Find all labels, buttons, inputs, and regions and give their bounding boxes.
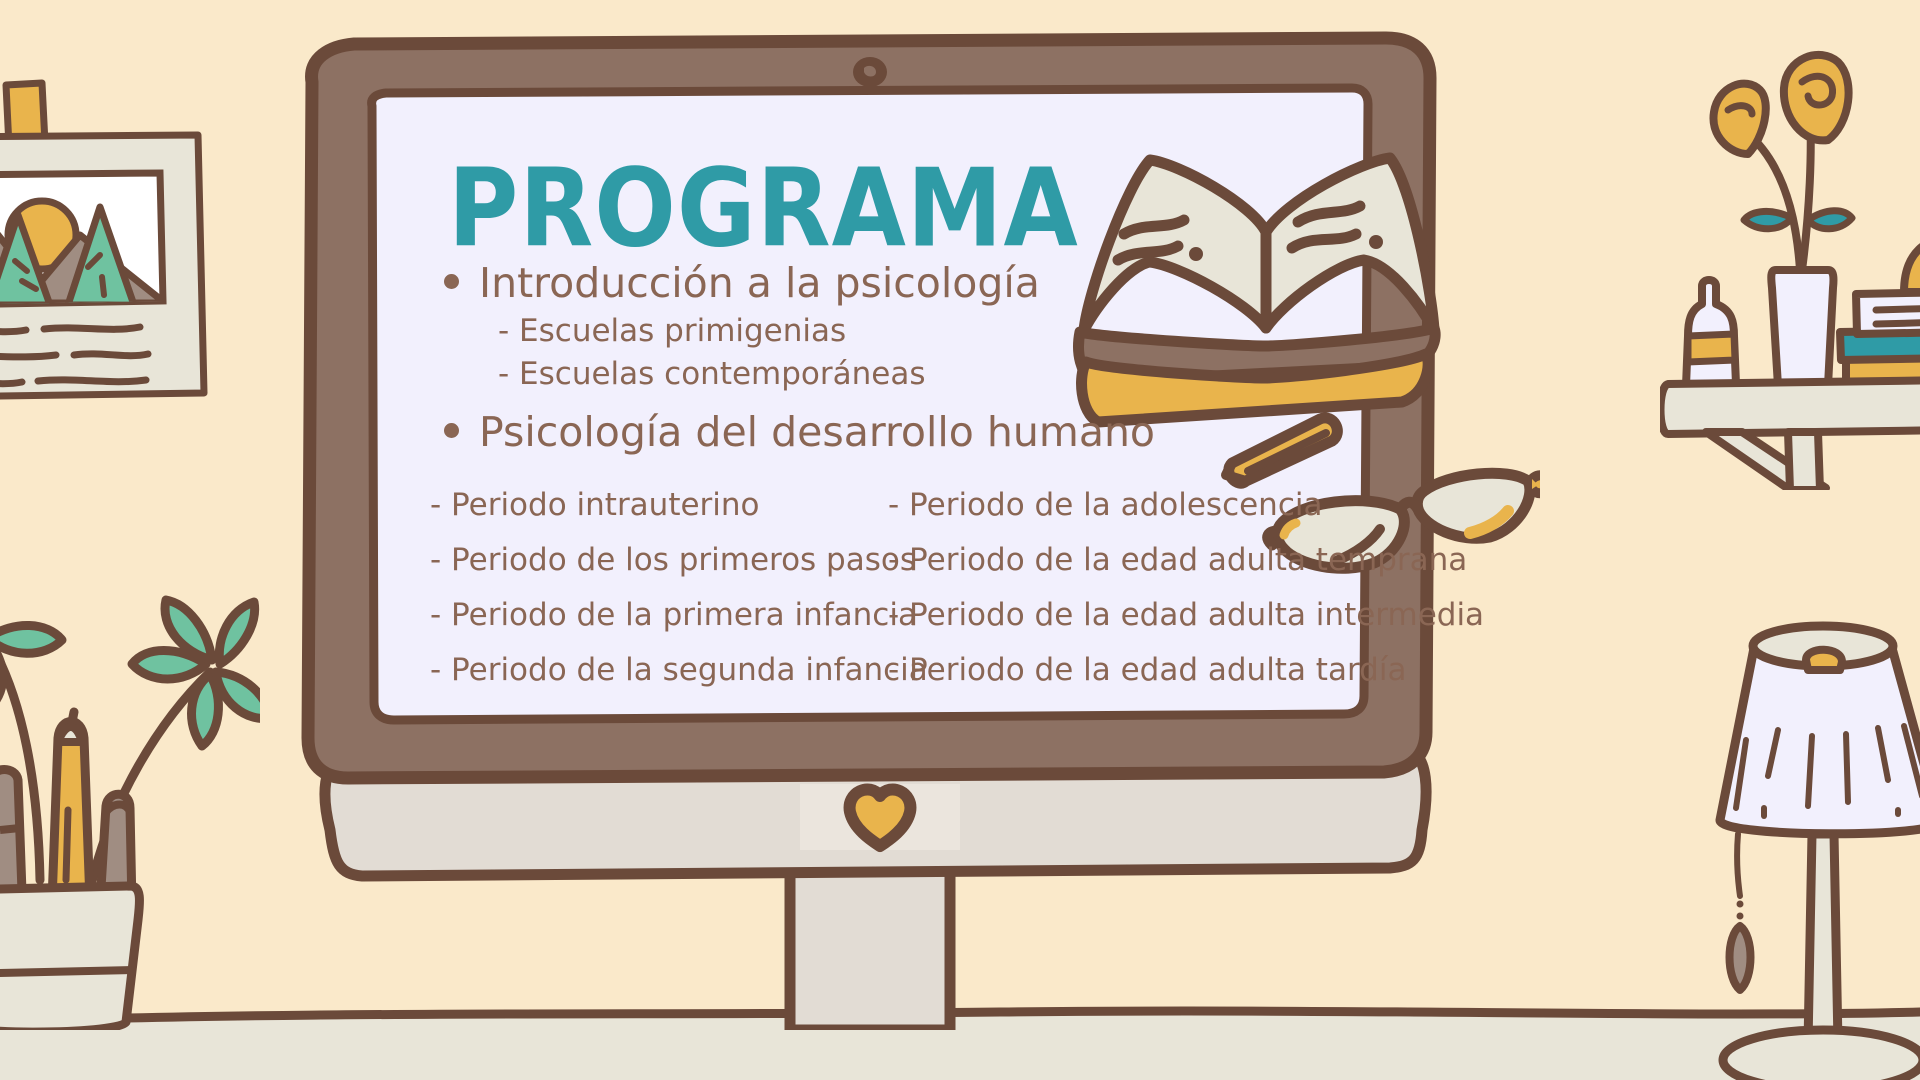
list-item: - Periodo de la edad adulta tardía [888, 655, 1448, 686]
periods-columns: - Periodo intrauterino - Periodo de los … [430, 490, 1560, 710]
plant-leaf-cluster-left [0, 625, 62, 712]
bullet-item-2: Psicología del desarrollo humano [444, 410, 1560, 456]
flower-vase [1771, 270, 1833, 386]
pencil-cup [0, 886, 140, 1030]
pencils-in-cup [0, 722, 132, 907]
stacked-books [1840, 239, 1920, 386]
wall-shelf-group [1660, 40, 1920, 490]
lamp-bulb [1806, 650, 1842, 670]
shelf-brackets [1706, 432, 1826, 490]
periods-left-column: - Periodo intrauterino - Periodo de los … [430, 490, 870, 710]
shelf-board [1661, 380, 1920, 434]
plant-leaf-cluster-right [132, 600, 260, 746]
periods-right-column: - Periodo de la adolescencia - Periodo d… [888, 490, 1448, 710]
scene-root: PROGRAMA Introducción a la psicología - … [0, 0, 1920, 1080]
bullet-dot-icon [444, 423, 459, 438]
list-item: - Periodo de la segunda infancia [430, 655, 870, 686]
list-item: - Periodo de los primeros pasos [430, 545, 870, 576]
lamp-stem [1808, 834, 1838, 1044]
flower-blooms [1713, 55, 1848, 154]
desk-plant-and-pencil-cup [0, 450, 260, 1030]
sub-item-1-2: - Escuelas contemporáneas [498, 357, 1560, 393]
bullet-label: Psicología del desarrollo humano [479, 410, 1155, 456]
list-item: - Periodo intrauterino [430, 490, 870, 521]
bullet-dot-icon [444, 274, 459, 289]
slide-content: PROGRAMA Introducción a la psicología - … [430, 155, 1560, 775]
list-item: - Periodo de la adolescencia [888, 490, 1448, 521]
sub-item-1-1: - Escuelas primigenias [498, 314, 1560, 350]
list-item: - Periodo de la edad adulta intermedia [888, 600, 1448, 631]
list-item: - Periodo de la edad adulta temprana [888, 545, 1448, 576]
lamp-pull-cord [1730, 834, 1751, 990]
wall-poster [0, 75, 230, 415]
list-item: - Periodo de la primera infancia [430, 600, 870, 631]
table-lamp [1660, 590, 1920, 1080]
page-title: PROGRAMA [448, 155, 1560, 263]
lamp-base [1723, 1030, 1920, 1080]
